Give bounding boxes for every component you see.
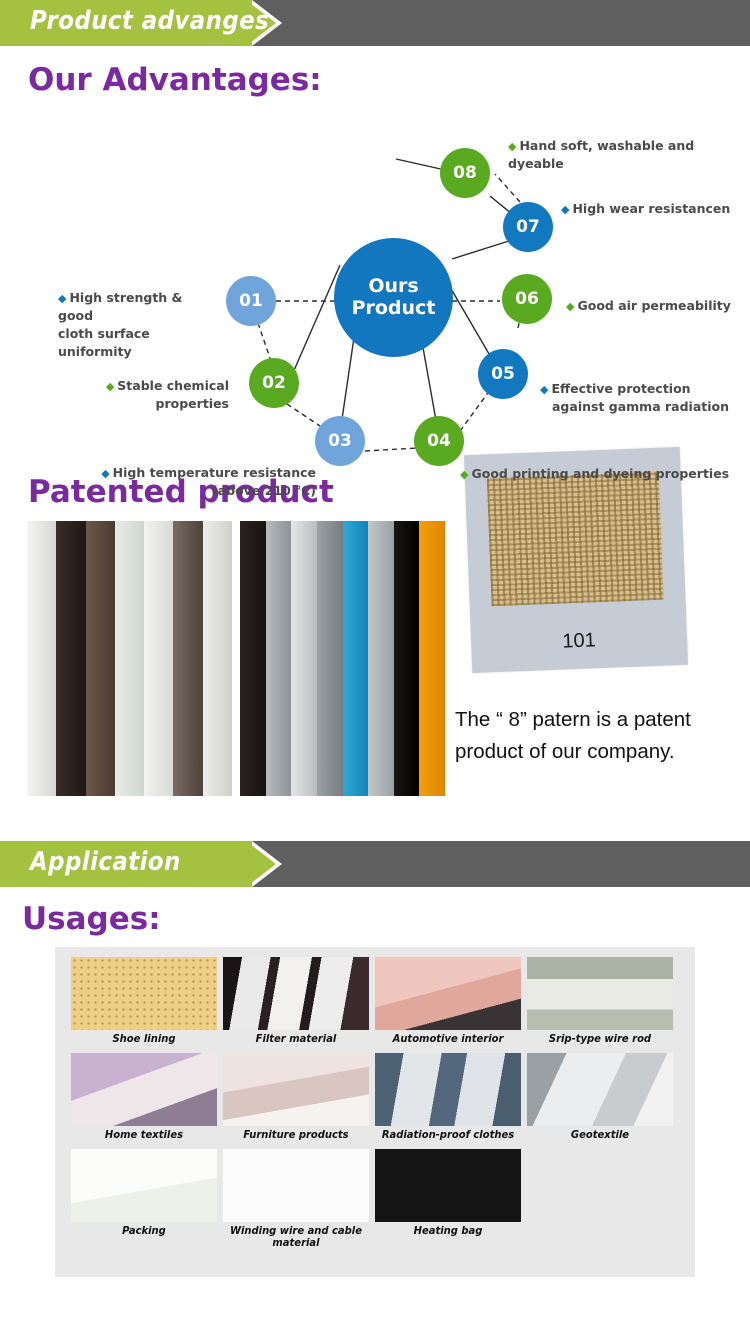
usage-caption: Furniture products xyxy=(227,1126,366,1145)
node-04[interactable]: 04 xyxy=(414,416,464,466)
label-08-line-1: Hand soft, washable and dyeable xyxy=(508,138,694,171)
usage-thumbnail xyxy=(375,1149,521,1222)
node-06[interactable]: 06 xyxy=(502,274,552,324)
usage-caption: Filter material xyxy=(227,1030,366,1049)
usage-thumbnail xyxy=(223,957,369,1030)
node-07[interactable]: 07 xyxy=(503,202,553,252)
usage-thumbnail xyxy=(71,1149,217,1222)
usage-item[interactable]: Radiation-proof clothes xyxy=(375,1053,521,1145)
label-04-line-1: Good printing and dyeing properties xyxy=(471,466,729,481)
usage-thumbnail xyxy=(375,1053,521,1126)
label-06-line-1: Good air permeability xyxy=(577,298,730,313)
label-02-line-2: properties xyxy=(84,395,229,413)
banner-title-application: Application xyxy=(30,847,181,877)
patent-fabric-swatch xyxy=(487,472,664,607)
usage-item[interactable]: Packing xyxy=(71,1149,217,1253)
label-05-line-1: Effective protection xyxy=(551,381,690,396)
usage-thumbnail xyxy=(71,1053,217,1126)
label-06: ◆Good air permeability xyxy=(566,297,731,315)
label-07-line-1: High wear resistancen xyxy=(572,201,730,216)
usage-thumbnail xyxy=(223,1149,369,1222)
label-08: ◆Hand soft, washable and dyeable xyxy=(508,137,750,173)
fabric-rolls-photo-2 xyxy=(240,521,445,796)
patent-caption-text: The “ 8” patern is a patent product of o… xyxy=(455,704,735,768)
usages-section: Usages: Shoe liningFilter materialAutomo… xyxy=(0,887,750,1297)
label-02-line-1: Stable chemical xyxy=(117,378,229,393)
label-01: ◆High strength & good cloth surface unif… xyxy=(58,289,218,362)
usages-panel: Shoe liningFilter materialAutomotive int… xyxy=(55,947,695,1277)
label-07: ◆High wear resistancen xyxy=(561,200,730,218)
label-05-line-2: against gamma radiation xyxy=(540,398,729,416)
node-05[interactable]: 05 xyxy=(478,349,528,399)
node-02[interactable]: 02 xyxy=(249,358,299,408)
diamond-icon-blue: ◆ xyxy=(58,292,66,305)
banner-application: Application xyxy=(0,841,750,887)
label-03-line-2: (above 210 ℃) xyxy=(80,482,316,500)
patented-product-section: Patented product 101 The “ 8” patern is … xyxy=(0,456,750,841)
node-08[interactable]: 08 xyxy=(440,148,490,198)
usage-caption: Shoe lining xyxy=(75,1030,214,1049)
diamond-icon-green: ◆ xyxy=(508,140,516,153)
label-03: ◆High temperature resistance (above 210 … xyxy=(80,464,316,500)
section-title-usages: Usages: xyxy=(22,901,161,937)
center-line-2: Product xyxy=(352,298,436,320)
node-center-ours-product: Ours Product xyxy=(334,238,453,357)
usage-item[interactable]: Winding wire and cable material xyxy=(223,1149,369,1253)
diamond-icon-blue: ◆ xyxy=(561,203,569,216)
banner-title-advantages: Product advanges xyxy=(30,6,269,36)
diamond-icon-blue: ◆ xyxy=(540,383,548,396)
usage-item[interactable]: Srip-type wire rod xyxy=(527,957,673,1049)
usage-thumbnail xyxy=(527,1053,673,1126)
diamond-icon-blue: ◆ xyxy=(101,467,109,480)
roll-strip-group xyxy=(240,521,445,796)
node-03[interactable]: 03 xyxy=(315,416,365,466)
label-03-line-1: High temperature resistance xyxy=(113,465,316,480)
diamond-icon-green: ◆ xyxy=(460,468,468,481)
usage-caption: Radiation-proof clothes xyxy=(379,1126,518,1145)
center-line-1: Ours xyxy=(352,276,436,298)
diamond-icon-green: ◆ xyxy=(566,300,574,313)
usage-thumbnail xyxy=(223,1053,369,1126)
node-01[interactable]: 01 xyxy=(226,276,276,326)
usage-item[interactable]: Furniture products xyxy=(223,1053,369,1145)
fabric-rolls-photo-1 xyxy=(27,521,232,796)
label-02: ◆Stable chemical properties xyxy=(84,377,229,413)
usage-caption: Winding wire and cable material xyxy=(227,1222,366,1253)
usage-caption: Geotextile xyxy=(531,1126,670,1145)
banner-product-advantages: Product advanges xyxy=(0,0,750,46)
usages-grid: Shoe liningFilter materialAutomotive int… xyxy=(71,957,679,1253)
usage-item[interactable]: Filter material xyxy=(223,957,369,1049)
usage-thumbnail xyxy=(71,957,217,1030)
banner-arrow-green xyxy=(246,841,276,887)
patent-swatch-number: 101 xyxy=(471,626,688,657)
label-01-line-2: cloth surface uniformity xyxy=(58,325,218,361)
usage-thumbnail xyxy=(527,957,673,1030)
usage-item[interactable]: Home textiles xyxy=(71,1053,217,1145)
diamond-icon-green: ◆ xyxy=(106,380,114,393)
roll-strip-group xyxy=(27,521,232,796)
label-05: ◆Effective protection against gamma radi… xyxy=(540,380,729,416)
usage-caption: Srip-type wire rod xyxy=(531,1030,670,1049)
usage-item[interactable]: Heating bag xyxy=(375,1149,521,1253)
label-04: ◆Good printing and dyeing properties xyxy=(460,465,729,483)
usage-caption: Automotive interior xyxy=(379,1030,518,1049)
usage-caption: Packing xyxy=(75,1222,214,1241)
usage-item[interactable]: Geotextile xyxy=(527,1053,673,1145)
usage-caption: Home textiles xyxy=(75,1126,214,1145)
usage-item[interactable]: Automotive interior xyxy=(375,957,521,1049)
label-01-line-1: High strength & good xyxy=(58,290,182,323)
usage-caption: Heating bag xyxy=(379,1222,518,1241)
usage-thumbnail xyxy=(375,957,521,1030)
advantages-diagram-section: Our Advantages: Ours Product xyxy=(0,46,750,456)
usage-item[interactable]: Shoe lining xyxy=(71,957,217,1049)
